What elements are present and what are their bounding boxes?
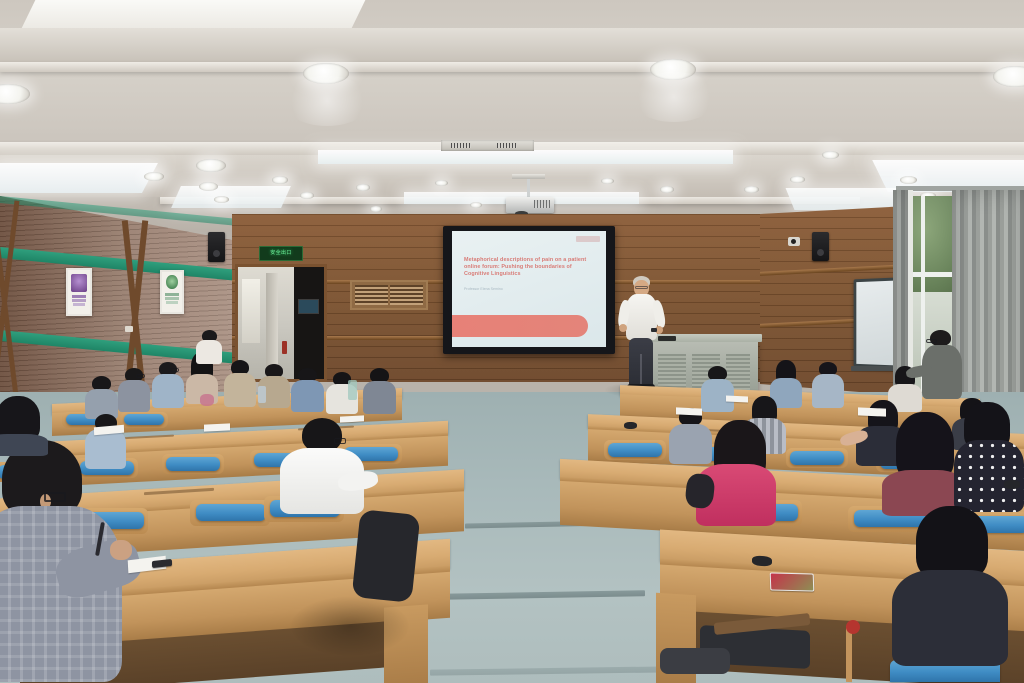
ceiling-spot-3 bbox=[199, 182, 218, 191]
poster-right-text bbox=[165, 297, 179, 300]
ceiling-spot-13 bbox=[822, 151, 839, 159]
attendee-glasses bbox=[170, 368, 179, 372]
notepaper-sheet bbox=[340, 415, 364, 422]
attendee-glasses bbox=[44, 492, 66, 502]
projector-vent bbox=[534, 200, 550, 208]
ceiling-spot-9 bbox=[601, 178, 614, 184]
attendee-top bbox=[224, 373, 256, 407]
attendee-top bbox=[812, 374, 844, 408]
poster-left-text bbox=[72, 295, 86, 298]
water-bottle-2[interactable] bbox=[258, 386, 266, 403]
slide-university-logo bbox=[576, 236, 600, 242]
attendee-right-blue-shirt bbox=[700, 366, 734, 412]
exit-sign: 安全出口 bbox=[259, 246, 303, 261]
ceiling-spot-10 bbox=[660, 186, 674, 193]
ceiling-ac-grille-2 bbox=[497, 143, 517, 148]
attendee-back-left-grey bbox=[84, 376, 118, 418]
ceiling-spot-1 bbox=[196, 159, 226, 172]
wall-camera bbox=[788, 237, 800, 246]
ceiling-spot-7 bbox=[356, 184, 370, 191]
slide-subtitle: Professor Elena Semino bbox=[464, 287, 574, 292]
poster-right-text bbox=[166, 301, 178, 304]
slide-title: Metaphorical descriptions of pain on a p… bbox=[464, 257, 588, 278]
wall-outlet-left bbox=[125, 326, 133, 332]
poster-right-text bbox=[165, 293, 179, 296]
attendee-top bbox=[118, 380, 150, 412]
notepaper-sheet bbox=[676, 407, 702, 415]
attendee-glasses bbox=[334, 438, 346, 444]
poster-left-text bbox=[72, 299, 86, 302]
desk-puck-right[interactable] bbox=[1004, 480, 1020, 489]
attendee-top bbox=[363, 381, 396, 414]
attendee-top bbox=[291, 380, 324, 412]
ceiling-band-upper bbox=[0, 28, 1024, 62]
attendee-right-seated-man bbox=[920, 330, 964, 402]
phone-screen bbox=[771, 573, 814, 590]
attendee-top bbox=[954, 440, 1024, 512]
attendee-hair-long bbox=[916, 506, 988, 580]
projection-screen-surface: Metaphorical descriptions of pain on a p… bbox=[452, 231, 606, 347]
presenter bbox=[614, 276, 668, 392]
projector-ceiling-plate bbox=[512, 174, 545, 179]
ceiling-downlight-1 bbox=[0, 84, 30, 104]
ceiling-downlight-4 bbox=[993, 66, 1024, 87]
attendee-left-grey bbox=[118, 368, 150, 412]
attendee-left-beige bbox=[224, 360, 256, 406]
ceiling-panel-light-left bbox=[0, 163, 158, 193]
attendee-top bbox=[892, 570, 1008, 666]
notepaper-sheet bbox=[726, 396, 748, 403]
speaker-cone bbox=[213, 250, 220, 257]
downlight-glow-2 bbox=[283, 76, 371, 126]
ceiling-spot-6 bbox=[300, 192, 314, 199]
attendee-glasses bbox=[926, 339, 937, 343]
ceiling-panel-light-center bbox=[318, 150, 733, 164]
attendee-center-grey bbox=[362, 368, 396, 414]
attendee-back-center bbox=[812, 362, 844, 408]
desk-flower-vase bbox=[200, 394, 214, 406]
attendee-right-pink-vest bbox=[692, 420, 788, 528]
ceiling-spot-8 bbox=[435, 180, 448, 186]
vent-slats-right bbox=[390, 285, 423, 305]
backpack-under-desk-left bbox=[352, 509, 421, 603]
ceiling-spot-11 bbox=[744, 186, 759, 193]
wall-speaker-right bbox=[812, 232, 829, 261]
ceiling-panel-light-left2 bbox=[171, 186, 291, 208]
framed-poster-right bbox=[160, 270, 184, 314]
presenter-shirt bbox=[626, 294, 657, 340]
bag-under-front-desk bbox=[660, 648, 730, 674]
attendee-right-polkadot bbox=[954, 402, 1024, 512]
poster-left-text bbox=[73, 303, 85, 306]
projection-screen-frame: Metaphorical descriptions of pain on a p… bbox=[443, 226, 615, 354]
umbrella-handle bbox=[846, 620, 860, 634]
ceiling-spot-16 bbox=[370, 206, 382, 212]
wall-vent-panel bbox=[350, 280, 428, 310]
ceiling-spot-17 bbox=[470, 202, 482, 208]
desk-puck-left[interactable] bbox=[624, 422, 637, 429]
attendee-left-white-blouse bbox=[196, 330, 222, 364]
ceiling-spot-14 bbox=[900, 176, 917, 184]
presenter-remote-puck[interactable] bbox=[752, 555, 772, 566]
slide-accent-band bbox=[452, 315, 588, 337]
chair-shadow-left bbox=[290, 596, 410, 656]
desk-shelf-divider bbox=[846, 626, 852, 682]
projector-mount-pole bbox=[527, 176, 530, 198]
poster-right-emblem bbox=[166, 275, 177, 289]
ceiling-spot-2 bbox=[144, 172, 164, 181]
speaker-cone bbox=[817, 249, 824, 256]
poster-left-portrait bbox=[71, 274, 87, 292]
presenter-hand-left bbox=[619, 324, 627, 332]
water-bottle[interactable] bbox=[348, 380, 357, 400]
attendee-left-far-edge bbox=[0, 396, 48, 456]
attendee-top bbox=[152, 374, 184, 408]
presenter-clicker[interactable] bbox=[651, 328, 657, 332]
attendee-hair bbox=[302, 418, 342, 452]
ceiling-beam-1 bbox=[0, 62, 1024, 72]
wall-lattice-left bbox=[2, 200, 18, 400]
seat-right2-1[interactable] bbox=[608, 443, 662, 457]
attendee-top bbox=[0, 506, 122, 682]
attendee-left-blue-shirt bbox=[152, 362, 184, 408]
attendee-center-blue bbox=[290, 368, 324, 412]
seat-row2-3[interactable] bbox=[166, 457, 220, 471]
camera-lens bbox=[791, 239, 796, 244]
ceiling-spot-12 bbox=[790, 176, 805, 183]
attendee-hair bbox=[930, 330, 951, 346]
ceiling-ac-grille-1 bbox=[451, 143, 471, 148]
attendee-glasses bbox=[136, 374, 145, 378]
smartphone-on-desk-front[interactable] bbox=[770, 572, 815, 591]
ceiling-spot-4 bbox=[272, 176, 288, 184]
attendee-top bbox=[0, 434, 48, 456]
framed-poster-left bbox=[66, 268, 92, 316]
downlight-glow-3 bbox=[630, 72, 718, 122]
seat-back-2[interactable] bbox=[124, 414, 164, 425]
attendee-front-right-dark bbox=[890, 506, 1010, 666]
vent-slats-left bbox=[355, 285, 388, 305]
ceiling-skylight-left bbox=[22, 0, 369, 28]
attendee-hand bbox=[110, 540, 132, 560]
seat-row3-2[interactable] bbox=[196, 504, 266, 521]
presenter-glasses bbox=[635, 286, 648, 289]
lecture-hall-photo: 安全出口 Metaphorical descriptions of pain o… bbox=[0, 0, 1024, 683]
attendee-white-tshirt bbox=[274, 418, 378, 528]
exit-sign-text: 安全出口 bbox=[270, 251, 292, 256]
ceiling bbox=[0, 0, 1024, 232]
notepaper-sheet bbox=[858, 407, 886, 416]
notepaper-sheet bbox=[204, 423, 230, 431]
ceiling-spot-5 bbox=[214, 196, 229, 203]
attendee-top bbox=[196, 340, 222, 364]
wall-speaker-left bbox=[208, 232, 225, 262]
seat-right2-3[interactable] bbox=[790, 451, 844, 465]
